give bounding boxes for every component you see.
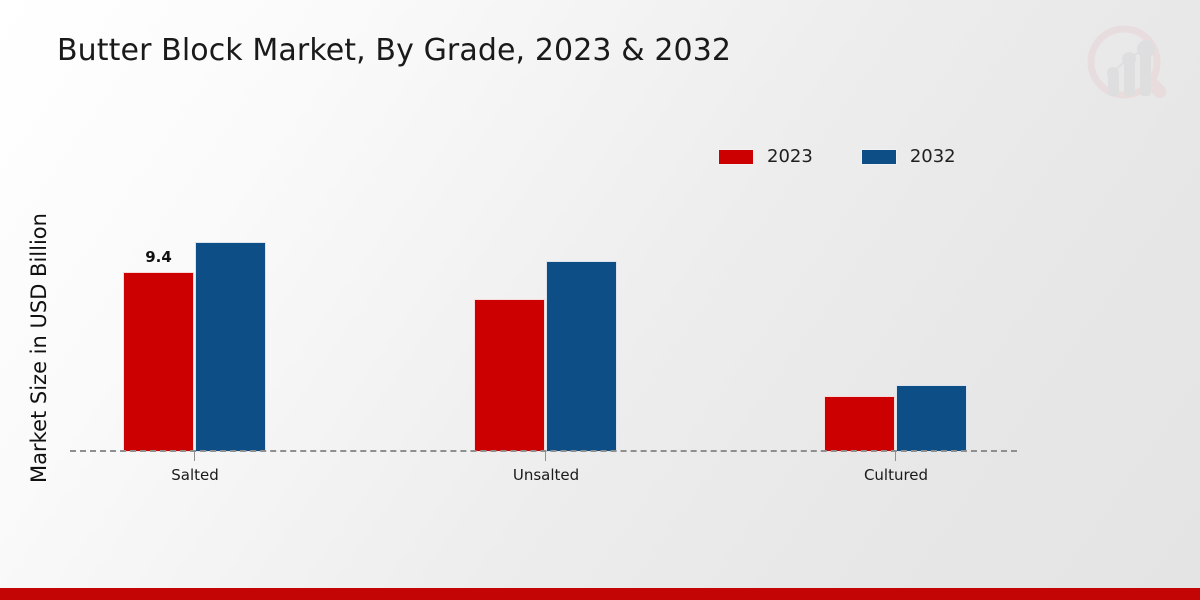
- bar-salted-2032[interactable]: [195, 242, 266, 452]
- magnifier-bar-chart-logo-icon: [1080, 18, 1176, 114]
- page-title: Butter Block Market, By Grade, 2023 & 20…: [57, 33, 731, 68]
- footer-accent-bar: [0, 588, 1200, 600]
- category-label-unsalted: Unsalted: [445, 466, 647, 484]
- bar-unsalted-2032[interactable]: [546, 261, 617, 452]
- bar-unsalted-2023[interactable]: [474, 299, 545, 452]
- category-label-cultured: Cultured: [795, 466, 997, 484]
- y-axis-label: Market Size in USD Billion: [27, 183, 51, 513]
- x-axis-baseline: [70, 450, 1017, 452]
- bar-group-unsalted: Unsalted: [474, 180, 617, 452]
- legend-item-2032[interactable]: 2032: [861, 148, 956, 166]
- axis-tick-salted: [194, 452, 195, 461]
- bar-cultured-2023[interactable]: [824, 396, 895, 452]
- plot-area: 9.4 Salted Unsalted Cultured: [70, 180, 1017, 452]
- axis-tick-cultured: [895, 452, 896, 461]
- legend-item-2023[interactable]: 2023: [718, 148, 813, 166]
- bar-value-salted-2023: 9.4: [123, 248, 194, 266]
- axis-tick-unsalted: [545, 452, 546, 461]
- legend-label-2023: 2023: [767, 148, 813, 166]
- legend-swatch-2032: [861, 149, 897, 165]
- legend-label-2032: 2032: [910, 148, 956, 166]
- bar-cultured-2032[interactable]: [896, 385, 967, 452]
- bar-group-cultured: Cultured: [824, 180, 967, 452]
- category-label-salted: Salted: [94, 466, 296, 484]
- legend-swatch-2023: [718, 149, 754, 165]
- bar-group-salted: 9.4 Salted: [123, 180, 266, 452]
- chart-legend: 2023 2032: [718, 148, 956, 166]
- bar-salted-2023[interactable]: [123, 272, 194, 452]
- chart-page: Butter Block Market, By Grade, 2023 & 20…: [0, 0, 1200, 600]
